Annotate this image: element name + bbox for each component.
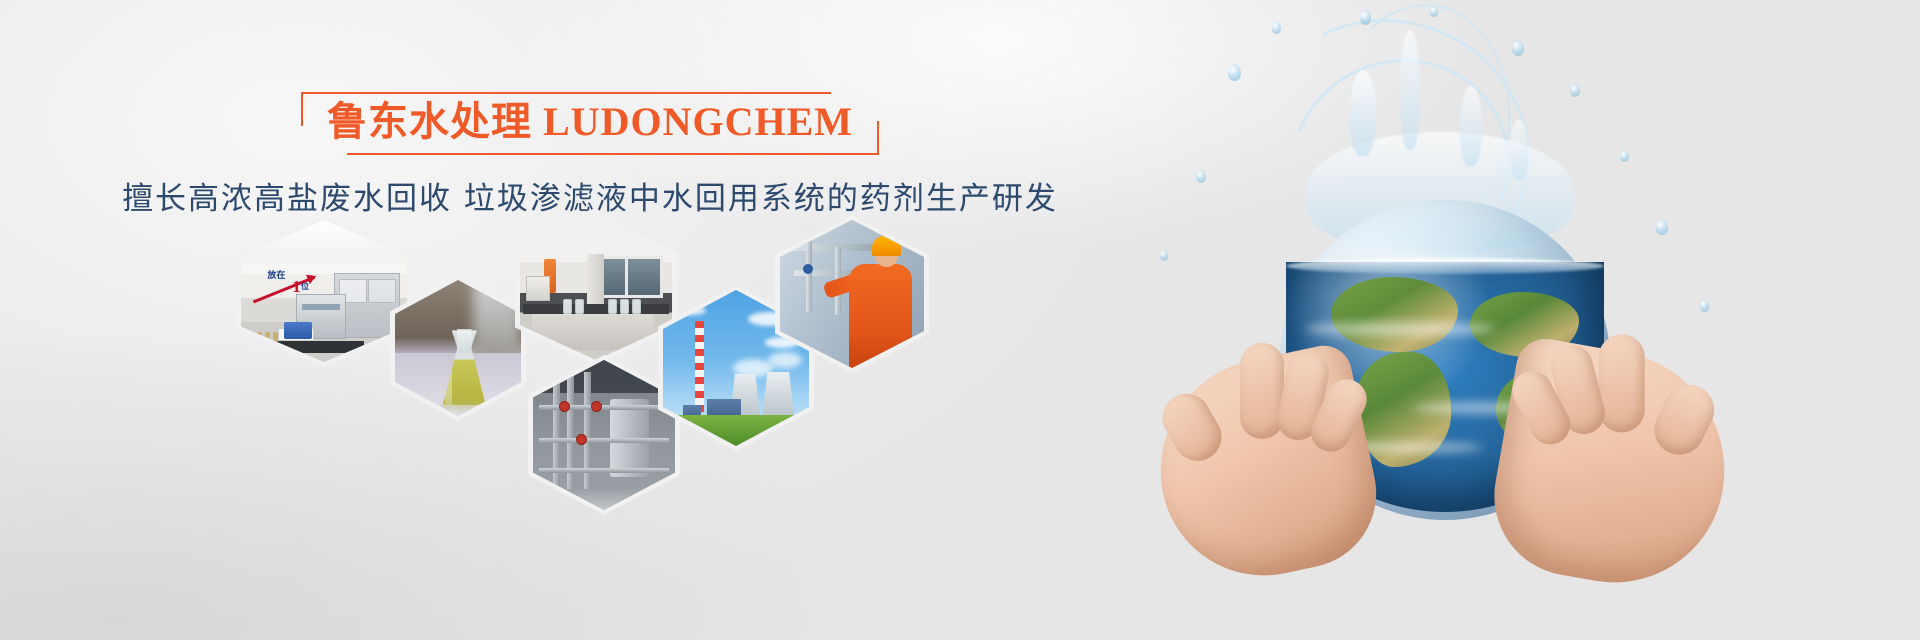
hand-left [1140, 341, 1390, 595]
water-globe-artwork [1100, 0, 1920, 640]
lab-slogan-number: 1 [292, 277, 301, 297]
splash-arc-1 [1217, 0, 1564, 317]
title-overline-rule [323, 92, 831, 94]
bracket-left-icon [301, 92, 323, 126]
bracket-right-icon [857, 121, 879, 155]
splash-jet-3 [1460, 86, 1482, 166]
droplet [1240, 430, 1250, 443]
earth-globe [1286, 262, 1604, 512]
water-sphere [1280, 200, 1610, 520]
droplet [1656, 220, 1668, 235]
splash-arc-2 [1257, 24, 1543, 305]
droplet [1196, 170, 1206, 183]
droplet [1640, 380, 1651, 394]
title-underline-rule [347, 153, 873, 155]
hero-banner: 鲁东水处理 LUDONGCHEM 擅长高浓高盐废水回收 垃圾渗滤液中水回用系统的… [0, 0, 1920, 640]
droplet [1700, 300, 1709, 312]
splash-jet-1 [1350, 70, 1376, 156]
splash-arc-3 [1318, 0, 1522, 253]
droplet [1160, 250, 1168, 261]
droplet [1620, 150, 1629, 162]
headline-block: 鲁东水处理 LUDONGCHEM 擅长高浓高盐废水回收 垃圾渗滤液中水回用系统的… [0, 92, 1180, 218]
company-title-wrap: 鲁东水处理 LUDONGCHEM [301, 92, 879, 155]
droplet [1512, 40, 1524, 56]
hand-right [1482, 334, 1744, 600]
splash-jet-2 [1400, 30, 1420, 150]
droplet [1430, 6, 1438, 17]
page-title: 鲁东水处理 LUDONGCHEM [327, 98, 853, 145]
splash-jet-4 [1510, 120, 1528, 180]
droplet [1570, 84, 1580, 97]
water-surface-line [1286, 258, 1604, 274]
page-subtitle: 擅长高浓高盐废水回收 垃圾渗滤液中水回用系统的药剂生产研发 [0, 173, 1180, 218]
lab-slogan-unit: 位 [301, 281, 309, 292]
droplet [1228, 64, 1241, 81]
hexagon-photo-cluster: 放在 1 位 水处理实验室 黄色药剂锥形瓶 [0, 215, 1000, 545]
splash-crown [1305, 132, 1575, 252]
droplet [1272, 22, 1281, 34]
droplet [1360, 10, 1371, 25]
lab-slogan-text: 放在 [267, 268, 285, 281]
